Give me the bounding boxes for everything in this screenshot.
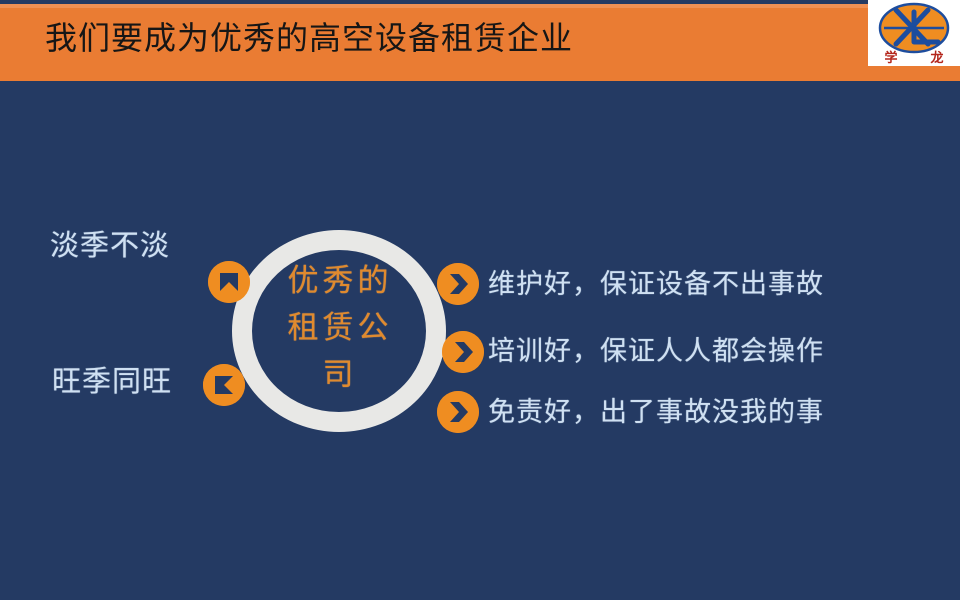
diagram-canvas: 优秀的 租赁公 司 [0,81,960,600]
left-item-label-1: 淡季不淡 [50,228,170,264]
left-item-label-2: 旺季同旺 [52,364,172,400]
presentation-slide: 我们要成为优秀的高空设备租赁企业 学 龙 优秀的 租赁公 司 [0,0,960,600]
center-label-line-1: 优秀的 [258,257,422,304]
badge-right-2[interactable] [442,331,484,373]
chevron-right-icon [442,331,484,373]
badge-right-1[interactable] [437,263,479,305]
center-label: 优秀的 租赁公 司 [258,257,422,398]
center-label-line-2: 租赁公 [258,304,422,351]
badge-left-top[interactable] [208,261,250,303]
badge-left-bottom[interactable] [203,364,245,406]
right-item-label-1: 维护好，保证设备不出事故 [488,267,824,301]
page-title: 我们要成为优秀的高空设备租赁企业 [45,14,573,62]
chevron-right-icon [437,263,479,305]
badge-right-3[interactable] [437,391,479,433]
chevron-up-left-icon [208,261,250,303]
right-item-label-3: 免责好，出了事故没我的事 [488,395,824,429]
center-label-line-3: 司 [258,351,422,398]
chevron-down-left-icon [203,364,245,406]
header-top-accent-line [0,4,960,8]
logo-char-left: 学 [884,47,897,66]
company-logo: 学 龙 [868,0,960,66]
chevron-right-icon [437,391,479,433]
right-item-label-2: 培训好，保证人人都会操作 [488,334,824,368]
logo-char-right: 龙 [930,47,943,66]
